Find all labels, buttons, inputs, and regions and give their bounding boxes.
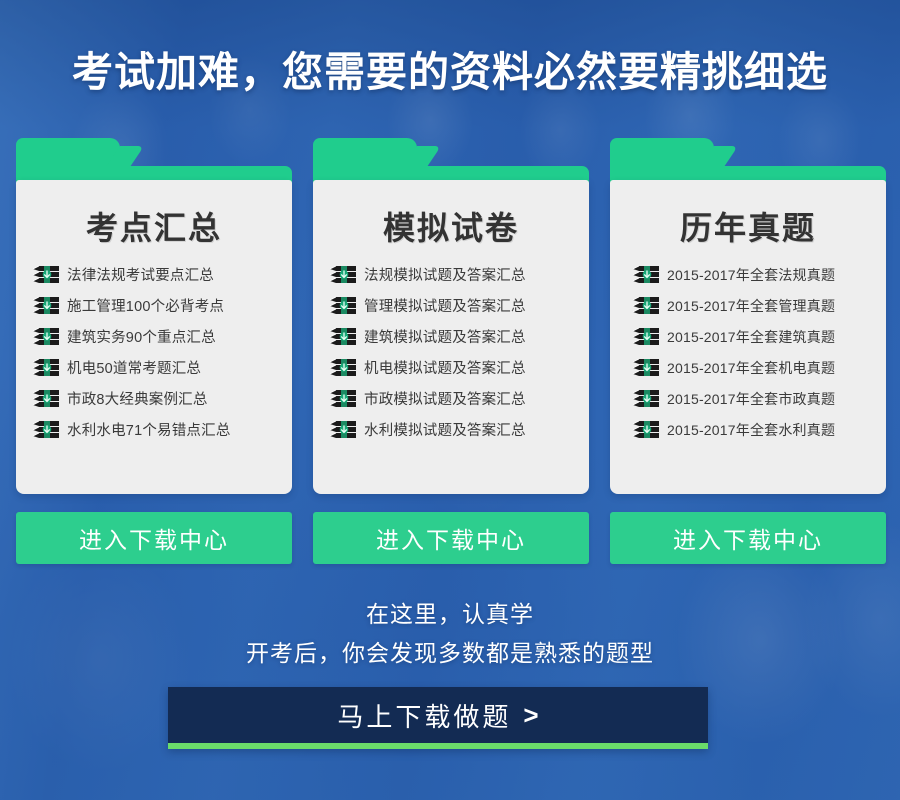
- download-card-1: 考点汇总 法律法规考试要点汇总 施工管理100个必背考点: [16, 138, 292, 494]
- list-item-label: 市政8大经典案例汇总: [67, 388, 208, 409]
- list-item-label: 2015-2017年全套建筑真题: [667, 327, 835, 347]
- list-item-label: 市政模拟试题及答案汇总: [364, 388, 526, 409]
- list-item-label: 施工管理100个必背考点: [67, 295, 224, 316]
- list-item[interactable]: 2015-2017年全套机电真题: [632, 352, 886, 383]
- chevron-right-icon: >: [523, 700, 538, 731]
- cta-label: 马上下载做题: [337, 697, 511, 734]
- list-item-label: 水利水电71个易错点汇总: [67, 419, 231, 440]
- download-card-3: 历年真题 2015-2017年全套法规真题 2015-2: [610, 138, 886, 494]
- list-item-label: 机电50道常考题汇总: [67, 357, 201, 378]
- list-item[interactable]: 法律法规考试要点汇总: [32, 259, 292, 290]
- list-item-label: 2015-2017年全套法规真题: [667, 265, 835, 285]
- list-item-label: 管理模拟试题及答案汇总: [364, 295, 526, 316]
- list-item[interactable]: 水利模拟试题及答案汇总: [329, 414, 589, 445]
- list-item-label: 机电模拟试题及答案汇总: [364, 357, 526, 378]
- list-item[interactable]: 2015-2017年全套法规真题: [632, 259, 886, 290]
- download-stack-icon: [632, 265, 660, 285]
- download-stack-icon: [329, 420, 357, 440]
- download-item-list: 法规模拟试题及答案汇总 管理模拟试题及答案汇总 建筑: [313, 259, 589, 445]
- list-item[interactable]: 施工管理100个必背考点: [32, 290, 292, 321]
- list-item[interactable]: 机电50道常考题汇总: [32, 352, 292, 383]
- download-stack-icon: [329, 265, 357, 285]
- folder-shape: 历年真题 2015-2017年全套法规真题 2015-2: [610, 138, 886, 494]
- card-body: 模拟试卷 法规模拟试题及答案汇总 管理模拟试题及答案汇总: [313, 180, 589, 494]
- card-title: 模拟试卷: [313, 180, 589, 259]
- folder-tab-icon: [16, 138, 292, 183]
- list-item[interactable]: 水利水电71个易错点汇总: [32, 414, 292, 445]
- folder-shape: 模拟试卷 法规模拟试题及答案汇总 管理模拟试题及答案汇总: [313, 138, 589, 494]
- download-stack-icon: [632, 389, 660, 409]
- list-item-label: 2015-2017年全套机电真题: [667, 358, 835, 378]
- download-stack-icon: [32, 327, 60, 347]
- list-item-label: 法律法规考试要点汇总: [67, 264, 214, 285]
- list-item[interactable]: 市政8大经典案例汇总: [32, 383, 292, 414]
- list-item[interactable]: 机电模拟试题及答案汇总: [329, 352, 589, 383]
- list-item-label: 建筑实务90个重点汇总: [67, 326, 216, 347]
- download-stack-icon: [32, 420, 60, 440]
- tagline-line-1: 在这里，认真学: [0, 595, 900, 629]
- page-title: 考试加难，您需要的资料必然要精挑细选: [0, 38, 900, 98]
- enter-download-center-button-1[interactable]: 进入下载中心: [16, 512, 292, 564]
- list-item[interactable]: 2015-2017年全套建筑真题: [632, 321, 886, 352]
- download-stack-icon: [329, 358, 357, 378]
- download-stack-icon: [32, 296, 60, 316]
- download-stack-icon: [32, 358, 60, 378]
- folder-shape: 考点汇总 法律法规考试要点汇总 施工管理100个必背考点: [16, 138, 292, 494]
- folder-tab-icon: [313, 138, 589, 183]
- list-item[interactable]: 2015-2017年全套管理真题: [632, 290, 886, 321]
- download-stack-icon: [32, 389, 60, 409]
- list-item-label: 2015-2017年全套市政真题: [667, 389, 835, 409]
- card-body: 历年真题 2015-2017年全套法规真题 2015-2: [610, 180, 886, 494]
- enter-download-center-button-3[interactable]: 进入下载中心: [610, 512, 886, 564]
- list-item-label: 法规模拟试题及答案汇总: [364, 264, 526, 285]
- list-item[interactable]: 2015-2017年全套市政真题: [632, 383, 886, 414]
- list-item-label: 2015-2017年全套水利真题: [667, 420, 835, 440]
- download-stack-icon: [632, 420, 660, 440]
- download-stack-icon: [632, 296, 660, 316]
- folder-tab-icon: [610, 138, 886, 183]
- download-card-2: 模拟试卷 法规模拟试题及答案汇总 管理模拟试题及答案汇总: [313, 138, 589, 494]
- list-item[interactable]: 管理模拟试题及答案汇总: [329, 290, 589, 321]
- list-item[interactable]: 市政模拟试题及答案汇总: [329, 383, 589, 414]
- download-stack-icon: [329, 389, 357, 409]
- tagline-line-2: 开考后，你会发现多数都是熟悉的题型: [0, 634, 900, 668]
- download-item-list: 2015-2017年全套法规真题 2015-2017年全套管理真题: [610, 259, 886, 445]
- download-item-list: 法律法规考试要点汇总 施工管理100个必背考点 建筑: [16, 259, 292, 445]
- download-stack-icon: [329, 327, 357, 347]
- card-title: 历年真题: [610, 180, 886, 259]
- card-title: 考点汇总: [16, 180, 292, 259]
- enter-download-center-button-2[interactable]: 进入下载中心: [313, 512, 589, 564]
- download-stack-icon: [632, 358, 660, 378]
- promo-banner: 考试加难，您需要的资料必然要精挑细选 考点汇总 法律法规考试要点汇总: [0, 0, 900, 800]
- list-item-label: 建筑模拟试题及答案汇总: [364, 326, 526, 347]
- download-now-cta-button[interactable]: 马上下载做题 >: [168, 687, 708, 749]
- list-item[interactable]: 建筑实务90个重点汇总: [32, 321, 292, 352]
- download-stack-icon: [32, 265, 60, 285]
- card-body: 考点汇总 法律法规考试要点汇总 施工管理100个必背考点: [16, 180, 292, 494]
- list-item[interactable]: 法规模拟试题及答案汇总: [329, 259, 589, 290]
- download-stack-icon: [632, 327, 660, 347]
- list-item-label: 水利模拟试题及答案汇总: [364, 419, 526, 440]
- list-item[interactable]: 2015-2017年全套水利真题: [632, 414, 886, 445]
- download-stack-icon: [329, 296, 357, 316]
- list-item[interactable]: 建筑模拟试题及答案汇总: [329, 321, 589, 352]
- list-item-label: 2015-2017年全套管理真题: [667, 296, 835, 316]
